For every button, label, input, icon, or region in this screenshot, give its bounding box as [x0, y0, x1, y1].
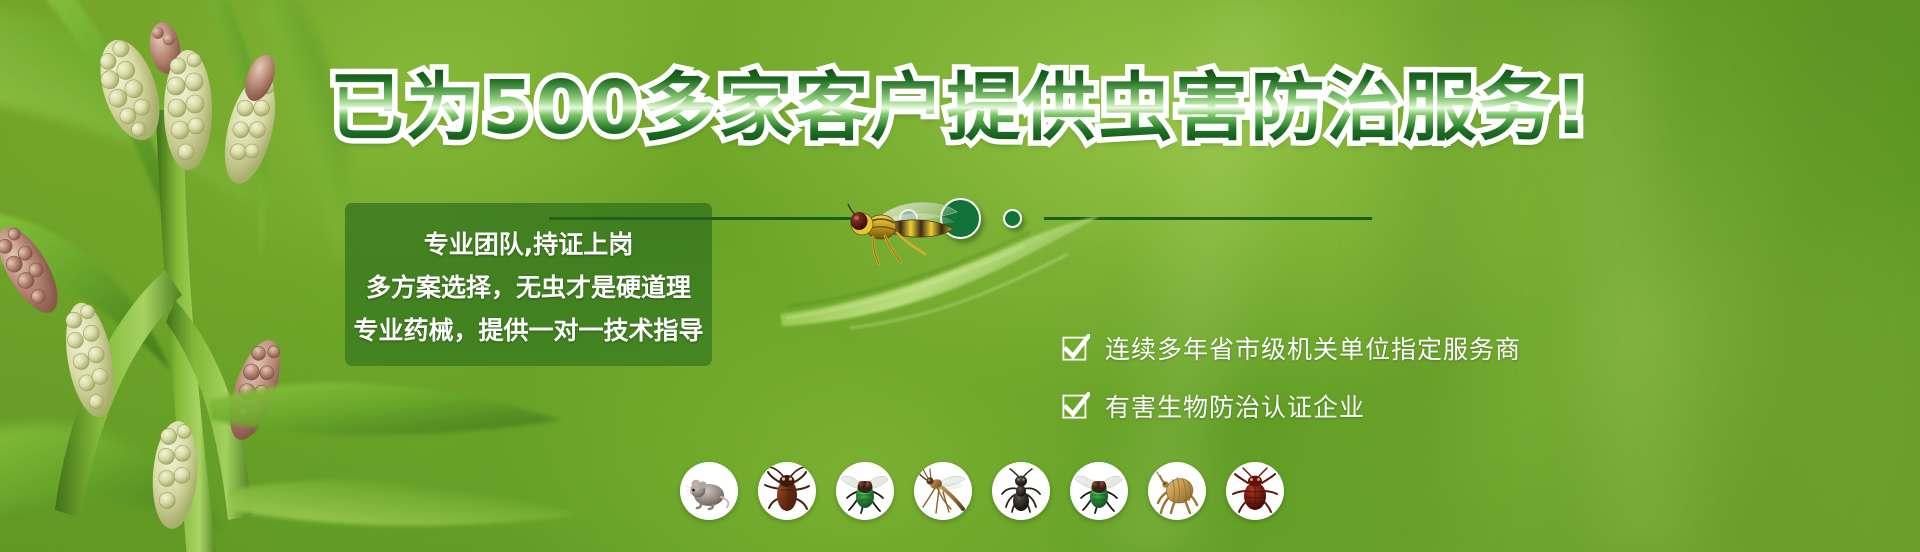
mouse-icon	[685, 467, 733, 515]
fly-green-icon	[1075, 467, 1123, 515]
checklist-item: 有害生物防治认证企业	[1062, 388, 1521, 424]
pest-icon-circle[interactable]	[992, 462, 1050, 520]
credentials-checklist: 连续多年省市级机关单位指定服务商 有害生物防治认证企业	[1062, 330, 1521, 424]
ant-icon	[997, 467, 1045, 515]
pest-icon-circle[interactable]	[680, 462, 738, 520]
page-title-fill: 已为500多家客户提供虫害防治服务!	[0, 66, 1920, 150]
checklist-item-label: 有害生物防治认证企业	[1105, 388, 1365, 424]
flea-icon	[1153, 467, 1201, 515]
pest-icon-circle[interactable]	[1148, 462, 1206, 520]
bedbug-icon	[1231, 467, 1279, 515]
mosquito-icon	[919, 467, 967, 515]
selling-point-2: 多方案选择，无虫才是硬道理	[366, 268, 691, 304]
pest-icon-circle[interactable]	[914, 462, 972, 520]
hoverfly-icon	[845, 196, 963, 268]
selling-points-text-group: 专业团队,持证上岗 多方案选择，无虫才是硬道理 专业药械，提供一对一技术指导	[345, 203, 712, 366]
pest-icon-row	[680, 462, 1284, 520]
checkbox-checked-icon	[1062, 334, 1090, 362]
pest-control-banner: 已为500多家客户提供虫害防治服务! 已为500多家客户提供虫害防治服务! 专业…	[0, 0, 1920, 552]
fly-icon	[841, 467, 889, 515]
pest-icon-circle[interactable]	[1070, 462, 1128, 520]
selling-point-3: 专业药械，提供一对一技术指导	[353, 311, 703, 347]
pest-icon-circle[interactable]	[1226, 462, 1284, 520]
page-title: 已为500多家客户提供虫害防治服务! 已为500多家客户提供虫害防治服务!	[0, 66, 1920, 150]
checkbox-checked-icon	[1062, 392, 1090, 420]
pest-icon-circle[interactable]	[758, 462, 816, 520]
pest-icon-circle[interactable]	[836, 462, 894, 520]
checklist-item-label: 连续多年省市级机关单位指定服务商	[1105, 330, 1521, 366]
cockroach-icon	[763, 467, 811, 515]
selling-point-1: 专业团队,持证上岗	[424, 225, 634, 261]
checklist-item: 连续多年省市级机关单位指定服务商	[1062, 330, 1521, 366]
